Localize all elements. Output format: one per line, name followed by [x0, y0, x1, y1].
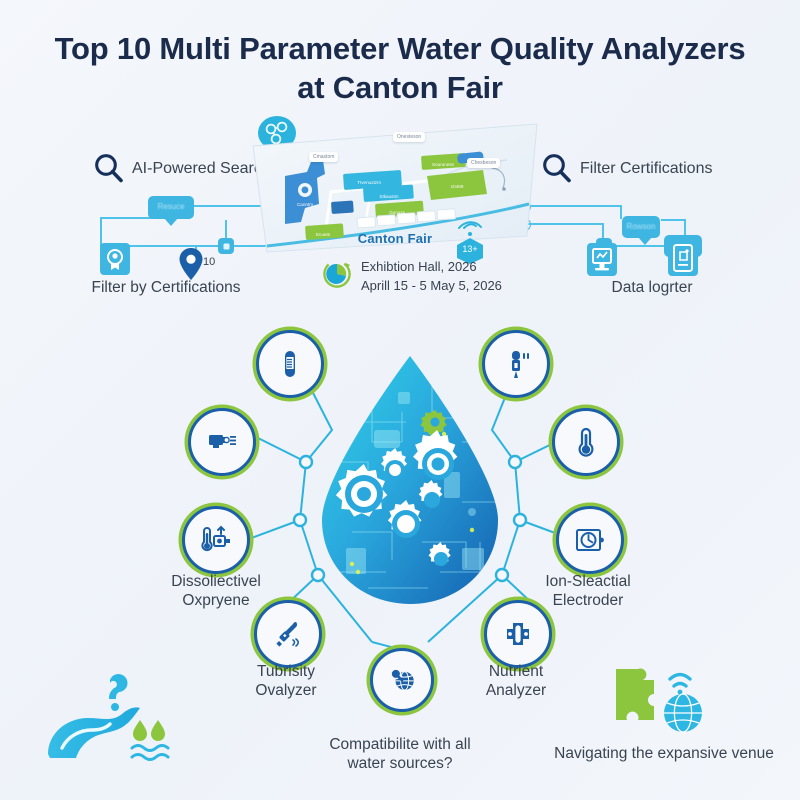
data-logger-label: Data logrter	[562, 278, 742, 297]
network-wire	[661, 219, 685, 221]
turbidity-probe-icon	[272, 618, 304, 650]
handheld-meter-icon	[668, 240, 698, 276]
magnifier-icon	[540, 152, 574, 186]
network-wire	[100, 217, 102, 245]
title-line-1: Top 10 Multi Parameter Water Quality Ana…	[55, 31, 746, 66]
water-droplet-circuit-icon	[312, 352, 508, 608]
exhibition-dates-line: Aprill 15 - 5 May 5, 2026	[361, 277, 502, 296]
temperature-device-icon	[200, 524, 232, 556]
search-result-bubble: Resuce	[148, 196, 194, 219]
map-tag: Cmastom	[309, 152, 338, 162]
ion-selective-electrode-label: Ion-Sleactial Electroder	[518, 572, 658, 611]
label-line-2: Electroder	[518, 591, 658, 610]
ai-powered-search-group: AI-Powered Search	[92, 152, 271, 186]
node-flow-meter[interactable]	[188, 408, 256, 476]
page-title: Top 10 Multi Parameter Water Quality Ana…	[0, 30, 800, 108]
label-line-1: Tubrisity	[222, 662, 350, 681]
node-icon	[218, 238, 234, 254]
filter-certifications-group: Filter Certifications	[540, 152, 712, 186]
svg-text:10489: 10489	[451, 184, 464, 189]
navigating-venue-label: Navigating the expansive venue	[540, 744, 788, 763]
dissolved-oxygen-label: Dissoliectivel Oxpryene	[146, 572, 286, 611]
magnifier-icon	[92, 152, 126, 186]
certificate-badge-icon	[100, 243, 130, 275]
whale-wave-question-icon	[40, 660, 180, 770]
exhibition-date-group: Exhibtion Hall, 2026 Aprill 15 - 5 May 5…	[322, 258, 502, 296]
label-line-2: water sources?	[296, 754, 504, 773]
label-line-2: Ovalyzer	[222, 681, 350, 700]
gauge-panel-icon	[574, 524, 606, 556]
puzzle-globe-wifi-icon	[608, 655, 712, 735]
node-water-source-compatibility[interactable]	[370, 648, 434, 712]
thermometer-icon	[570, 426, 602, 458]
label-line-2: Oxpryene	[146, 591, 286, 610]
label-line-1: Ion-Sleactial	[518, 572, 658, 591]
turbidity-analyzer-label: Tubrisity Ovalyzer	[222, 662, 350, 701]
label-line-1: Nutrient	[452, 662, 580, 681]
pin-count-label: 10	[203, 256, 215, 268]
map-tag: Onesteson	[393, 132, 425, 142]
water-source-compatibility-label: Compatibilite with all water sources?	[296, 735, 504, 774]
monitor-device-icon	[587, 243, 617, 276]
svg-text:Canntm: Canntm	[297, 202, 313, 207]
filter-by-certifications-label: Filter by Certifications	[76, 278, 256, 297]
exhibition-hall-line: Exhibtion Hall, 2026	[361, 258, 502, 277]
certification-bubble: Rowson	[622, 216, 660, 238]
svg-text:Trvenuxtzm: Trvenuxtzm	[357, 180, 381, 185]
node-thermometer[interactable]	[552, 408, 620, 476]
map-tag: Chesbeson	[467, 158, 500, 168]
label-line-2: Analyzer	[452, 681, 580, 700]
recycle-pie-icon	[322, 259, 352, 294]
svg-text:Gunuss: Gunuss	[389, 210, 406, 215]
infographic-canvas: Top 10 Multi Parameter Water Quality Ana…	[0, 0, 800, 800]
label-line-1: Compatibilite with all	[296, 735, 504, 754]
map-pin-icon	[178, 247, 204, 281]
nutrient-cross-icon	[502, 618, 534, 650]
canton-fair-caption: Canton Fair	[245, 231, 545, 246]
node-test-tube-sensor[interactable]	[256, 330, 324, 398]
title-line-2: at Canton Fair	[0, 69, 800, 108]
filter-certifications-label: Filter Certifications	[580, 160, 712, 178]
bubble-label: Rowson	[622, 216, 660, 237]
node-probe-sensor[interactable]	[482, 330, 550, 398]
svg-text:Stkaustm: Stkaustm	[379, 194, 398, 199]
node-ion-selective-electrode[interactable]	[556, 506, 624, 574]
nutrient-analyzer-label: Nutrient Analyzer	[452, 662, 580, 701]
label-line-1: Dissoliectivel	[146, 572, 286, 591]
flow-meter-icon	[206, 426, 238, 458]
node-dissolved-oxygen[interactable]	[182, 506, 250, 574]
svg-text:Souruness: Souruness	[432, 162, 455, 167]
probe-sensor-icon	[500, 348, 532, 380]
test-tube-sensor-icon	[274, 348, 306, 380]
globe-magnifier-icon	[388, 666, 416, 694]
bubble-label: Resuce	[148, 196, 194, 218]
exhibition-date-text: Exhibtion Hall, 2026 Aprill 15 - 5 May 5…	[361, 258, 502, 296]
